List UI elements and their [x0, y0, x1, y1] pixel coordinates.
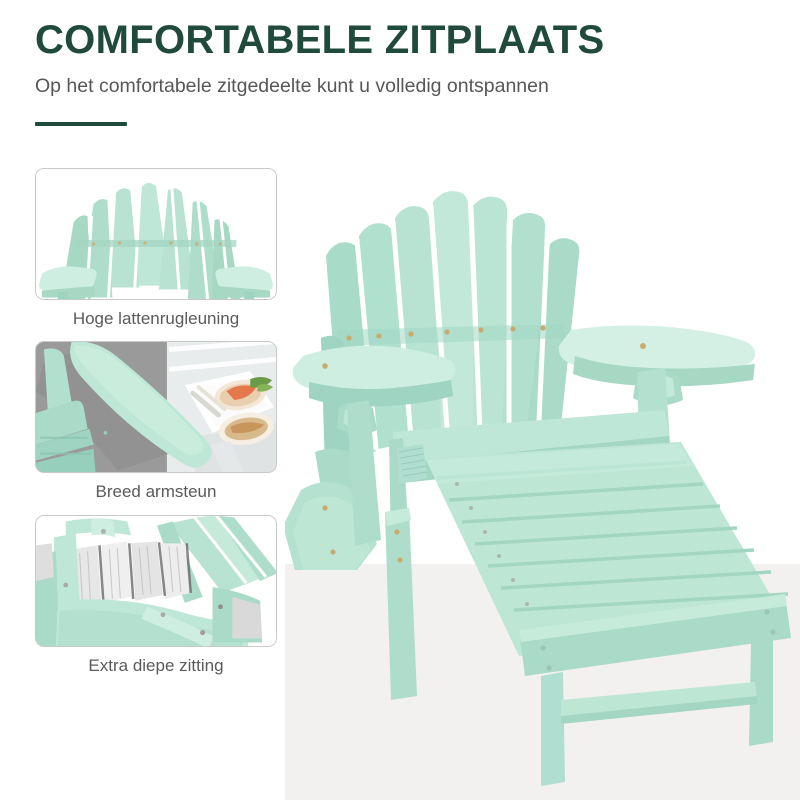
feature-caption-3: Extra diepe zitting	[35, 656, 277, 676]
wide-armrest-thumbnail-icon	[36, 342, 276, 472]
product-feature-page: COMFORTABELE ZITPLAATS Op het comfortabe…	[0, 0, 800, 800]
feature-caption-2: Breed armsteun	[35, 482, 277, 502]
feature-item-deep-seat: Extra diepe zitting	[35, 515, 277, 676]
page-subtitle: Op het comfortabele zitgedeelte kunt u v…	[35, 74, 765, 98]
deep-seat-thumbnail-icon	[36, 516, 276, 646]
hero-product-image	[285, 160, 800, 800]
feature-item-wide-armrest: Breed armsteun	[35, 341, 277, 502]
accent-underline-bar	[35, 122, 127, 126]
adirondack-chair-with-footrest-icon	[285, 160, 800, 800]
header: COMFORTABELE ZITPLAATS Op het comfortabe…	[35, 18, 765, 126]
feature-thumbnail-frame-1	[35, 168, 277, 300]
feature-item-high-back: Hoge lattenrugleuning	[35, 168, 277, 329]
feature-list: Hoge lattenrugleuning	[35, 168, 277, 688]
feature-thumbnail-frame-2	[35, 341, 277, 473]
page-title: COMFORTABELE ZITPLAATS	[35, 18, 765, 62]
feature-thumbnail-frame-3	[35, 515, 277, 647]
chair-back-slats-thumbnail-icon	[36, 169, 276, 299]
feature-caption-1: Hoge lattenrugleuning	[35, 309, 277, 329]
